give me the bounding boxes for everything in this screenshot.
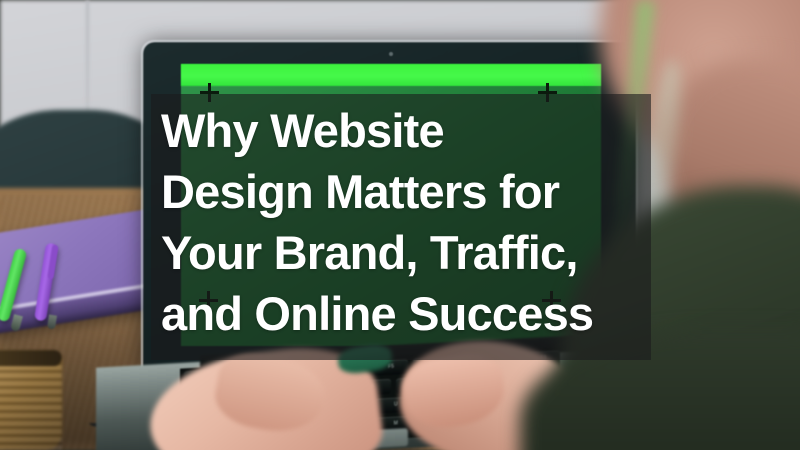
mug-texture xyxy=(0,362,62,450)
screenshot-stage: esc F1 F2 F3 F4 F5 F6 F7 F8 F9 2 3 4 5 6… xyxy=(0,0,800,450)
mug-rim xyxy=(0,350,62,366)
webcam-icon xyxy=(389,52,393,56)
page-title: Why Website Design Matters for Your Bran… xyxy=(161,100,653,344)
